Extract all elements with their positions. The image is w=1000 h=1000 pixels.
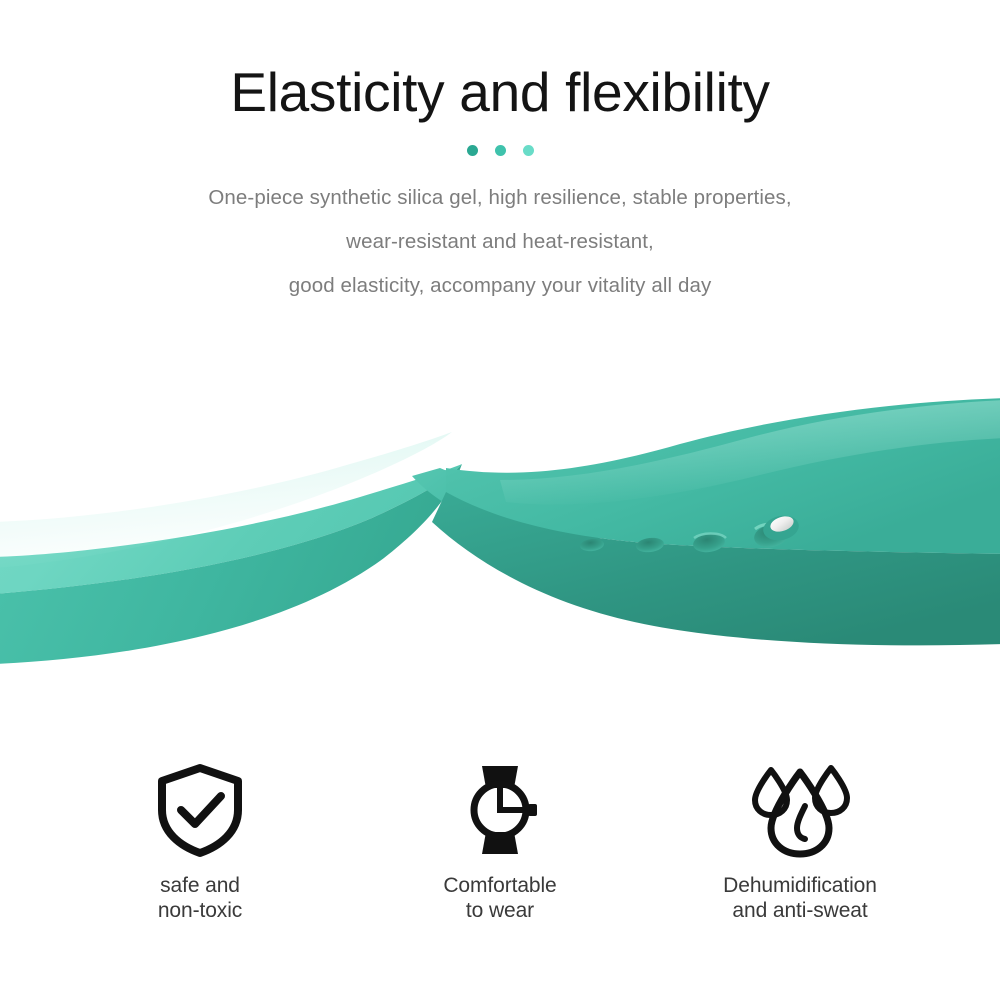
wristwatch-icon [456, 762, 544, 858]
header-block: Elasticity and flexibility One-piece syn… [0, 0, 1000, 308]
dot-separator [0, 144, 1000, 158]
feature-list: safe and non-toxic [0, 762, 1000, 962]
subtitle-block: One-piece synthetic silica gel, high res… [0, 176, 1000, 308]
feature-label-line2: and anti-sweat [723, 898, 877, 923]
feature-item-dehumidification: Dehumidification and anti-sweat [650, 762, 950, 923]
feature-label-line2: to wear [443, 898, 556, 923]
feature-label-comfortable-to-wear: Comfortable to wear [443, 873, 556, 923]
feature-item-safe-non-toxic: safe and non-toxic [50, 762, 350, 923]
separator-dot-3 [523, 145, 534, 156]
separator-dot-2 [495, 145, 506, 156]
separator-dot-1 [467, 145, 478, 156]
page-title: Elasticity and flexibility [0, 0, 1000, 124]
subtitle-line-2: wear-resistant and heat-resistant, [0, 220, 1000, 264]
feature-label-line1: Comfortable [443, 874, 556, 897]
water-drops-icon [745, 762, 855, 858]
shield-check-icon [154, 762, 246, 858]
feature-label-line1: Dehumidification [723, 874, 877, 897]
feature-label-line2: non-toxic [158, 898, 242, 923]
subtitle-line-1: One-piece synthetic silica gel, high res… [0, 176, 1000, 220]
subtitle-line-3: good elasticity, accompany your vitality… [0, 264, 1000, 308]
feature-label-line1: safe and [160, 874, 240, 897]
feature-label-dehumidification: Dehumidification and anti-sweat [723, 873, 877, 923]
feature-item-comfortable-to-wear: Comfortable to wear [350, 762, 650, 923]
product-feature-page: Elasticity and flexibility One-piece syn… [0, 0, 1000, 1000]
feature-label-safe-non-toxic: safe and non-toxic [158, 873, 242, 923]
product-photo [0, 372, 1000, 702]
